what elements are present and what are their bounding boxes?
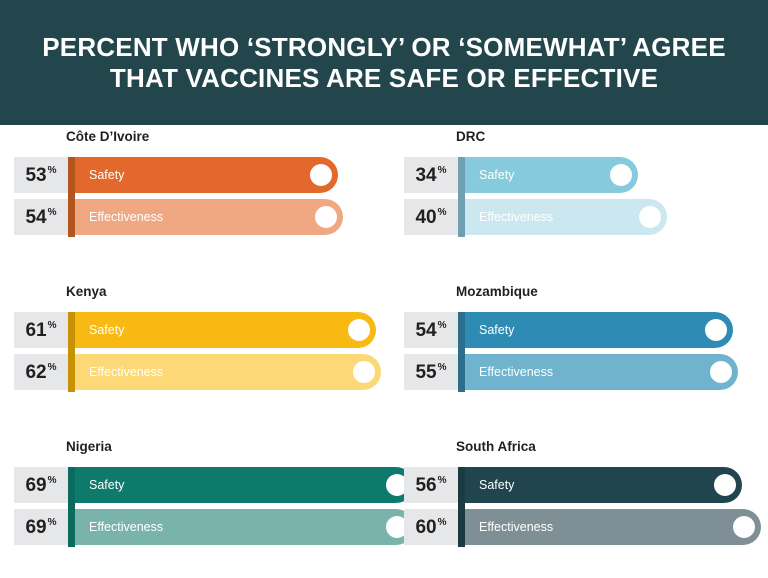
bar-end-knob-icon bbox=[610, 164, 632, 186]
percent-sign: % bbox=[438, 166, 447, 176]
bar-row[interactable]: 62%Effectiveness bbox=[0, 354, 384, 390]
bar-rows: 69%Safety69%Effectiveness bbox=[0, 467, 384, 551]
value-bar[interactable]: Safety bbox=[75, 312, 376, 348]
value-bar[interactable]: Safety bbox=[75, 467, 414, 503]
value-chip: 61% bbox=[14, 312, 68, 348]
bar-row[interactable]: 54%Effectiveness bbox=[0, 199, 384, 235]
value-number: 62 bbox=[25, 363, 46, 382]
value-chip: 56% bbox=[404, 467, 458, 503]
chart-board: Côte D’Ivoire53%Safety54%EffectivenessDR… bbox=[0, 125, 768, 578]
country-label: Kenya bbox=[66, 284, 107, 299]
value-number: 54 bbox=[415, 321, 436, 340]
value-bar[interactable]: Effectiveness bbox=[75, 199, 343, 235]
bar-series-label: Safety bbox=[89, 323, 124, 337]
title-banner: PERCENT WHO ‘STRONGLY’ OR ‘SOMEWHAT’ AGR… bbox=[0, 0, 768, 125]
country-label: Côte D’Ivoire bbox=[66, 129, 149, 144]
bar-series-label: Safety bbox=[89, 478, 124, 492]
bar-row[interactable]: 34%Safety bbox=[390, 157, 768, 193]
country-label: DRC bbox=[456, 129, 485, 144]
value-chip: 69% bbox=[14, 467, 68, 503]
title-line-1: PERCENT WHO ‘STRONGLY’ OR ‘SOMEWHAT’ AGR… bbox=[42, 32, 726, 63]
bar-row[interactable]: 61%Safety bbox=[0, 312, 384, 348]
bar-row[interactable]: 40%Effectiveness bbox=[390, 199, 768, 235]
bar-end-knob-icon bbox=[348, 319, 370, 341]
value-bar[interactable]: Safety bbox=[465, 312, 733, 348]
bar-series-label: Effectiveness bbox=[89, 365, 163, 379]
value-bar[interactable]: Effectiveness bbox=[75, 509, 414, 545]
value-bar[interactable]: Safety bbox=[75, 157, 338, 193]
bar-row[interactable]: 69%Safety bbox=[0, 467, 384, 503]
percent-sign: % bbox=[48, 321, 57, 331]
bar-end-knob-icon bbox=[310, 164, 332, 186]
value-number: 69 bbox=[25, 476, 46, 495]
percent-sign: % bbox=[48, 476, 57, 486]
bar-end-knob-icon bbox=[353, 361, 375, 383]
value-number: 53 bbox=[25, 166, 46, 185]
bar-series-label: Effectiveness bbox=[479, 365, 553, 379]
bar-row[interactable]: 56%Safety bbox=[390, 467, 768, 503]
value-number: 56 bbox=[415, 476, 436, 495]
value-number: 40 bbox=[415, 208, 436, 227]
value-bar[interactable]: Effectiveness bbox=[465, 354, 738, 390]
value-chip: 69% bbox=[14, 509, 68, 545]
value-bar[interactable]: Effectiveness bbox=[465, 199, 667, 235]
value-number: 54 bbox=[25, 208, 46, 227]
bar-series-label: Effectiveness bbox=[89, 210, 163, 224]
percent-sign: % bbox=[48, 363, 57, 373]
bar-series-label: Safety bbox=[89, 168, 124, 182]
bar-row[interactable]: 54%Safety bbox=[390, 312, 768, 348]
value-bar[interactable]: Safety bbox=[465, 157, 638, 193]
bar-series-label: Safety bbox=[479, 478, 514, 492]
value-number: 61 bbox=[25, 321, 46, 340]
value-chip: 54% bbox=[404, 312, 458, 348]
value-chip: 60% bbox=[404, 509, 458, 545]
country-label: Nigeria bbox=[66, 439, 112, 454]
bar-rows: 54%Safety55%Effectiveness bbox=[390, 312, 768, 396]
percent-sign: % bbox=[438, 321, 447, 331]
bar-row[interactable]: 69%Effectiveness bbox=[0, 509, 384, 545]
bar-rows: 34%Safety40%Effectiveness bbox=[390, 157, 768, 241]
percent-sign: % bbox=[48, 208, 57, 218]
bar-series-label: Effectiveness bbox=[479, 520, 553, 534]
value-chip: 55% bbox=[404, 354, 458, 390]
bar-row[interactable]: 55%Effectiveness bbox=[390, 354, 768, 390]
value-number: 60 bbox=[415, 518, 436, 537]
bar-series-label: Effectiveness bbox=[479, 210, 553, 224]
value-bar[interactable]: Effectiveness bbox=[465, 509, 761, 545]
value-chip: 62% bbox=[14, 354, 68, 390]
value-number: 55 bbox=[415, 363, 436, 382]
percent-sign: % bbox=[438, 363, 447, 373]
value-number: 69 bbox=[25, 518, 46, 537]
bar-row[interactable]: 60%Effectiveness bbox=[390, 509, 768, 545]
bar-end-knob-icon bbox=[315, 206, 337, 228]
value-chip: 53% bbox=[14, 157, 68, 193]
bar-rows: 53%Safety54%Effectiveness bbox=[0, 157, 384, 241]
value-chip: 34% bbox=[404, 157, 458, 193]
country-label: South Africa bbox=[456, 439, 536, 454]
percent-sign: % bbox=[48, 166, 57, 176]
percent-sign: % bbox=[438, 518, 447, 528]
value-bar[interactable]: Effectiveness bbox=[75, 354, 381, 390]
percent-sign: % bbox=[438, 208, 447, 218]
bar-rows: 61%Safety62%Effectiveness bbox=[0, 312, 384, 396]
bar-end-knob-icon bbox=[639, 206, 661, 228]
bar-row[interactable]: 53%Safety bbox=[0, 157, 384, 193]
value-bar[interactable]: Safety bbox=[465, 467, 742, 503]
bar-end-knob-icon bbox=[710, 361, 732, 383]
value-number: 34 bbox=[415, 166, 436, 185]
bar-rows: 56%Safety60%Effectiveness bbox=[390, 467, 768, 551]
percent-sign: % bbox=[438, 476, 447, 486]
value-chip: 40% bbox=[404, 199, 458, 235]
bar-end-knob-icon bbox=[714, 474, 736, 496]
bar-series-label: Safety bbox=[479, 168, 514, 182]
bar-series-label: Safety bbox=[479, 323, 514, 337]
bar-series-label: Effectiveness bbox=[89, 520, 163, 534]
bar-end-knob-icon bbox=[733, 516, 755, 538]
country-label: Mozambique bbox=[456, 284, 538, 299]
value-chip: 54% bbox=[14, 199, 68, 235]
bar-end-knob-icon bbox=[705, 319, 727, 341]
title-line-2: THAT VACCINES ARE SAFE OR EFFECTIVE bbox=[110, 63, 658, 94]
percent-sign: % bbox=[48, 518, 57, 528]
